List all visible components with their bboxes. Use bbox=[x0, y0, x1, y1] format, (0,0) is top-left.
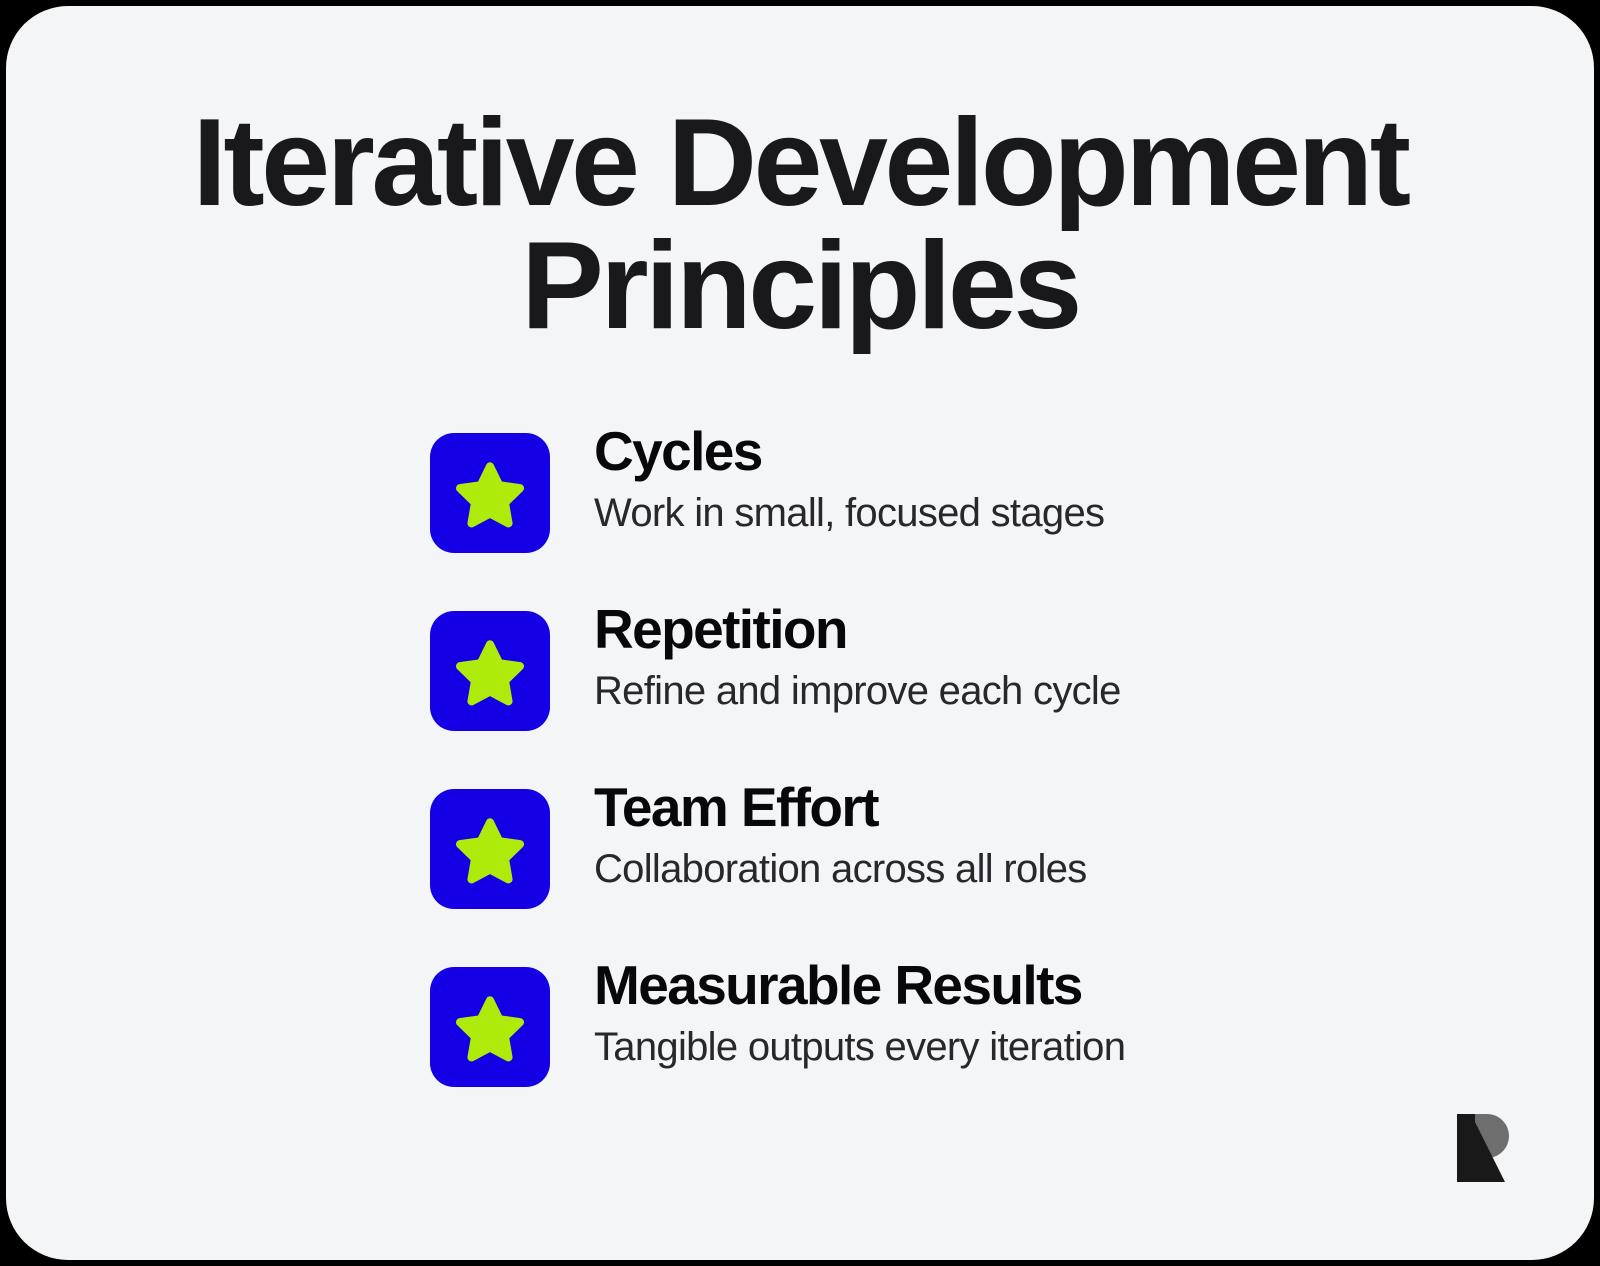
list-item-text: Cycles Work in small, focused stages bbox=[594, 421, 1414, 537]
list-item-title: Repetition bbox=[594, 599, 1414, 661]
page-title: Iterative Development Principles bbox=[126, 102, 1474, 348]
list-item: Measurable Results Tangible outputs ever… bbox=[430, 967, 1430, 1087]
star-icon bbox=[453, 456, 527, 530]
list-item: Team Effort Collaboration across all rol… bbox=[430, 789, 1430, 909]
star-icon bbox=[453, 634, 527, 708]
list-item-title: Team Effort bbox=[594, 777, 1414, 839]
list-item-text: Team Effort Collaboration across all rol… bbox=[594, 777, 1414, 893]
list-item: Cycles Work in small, focused stages bbox=[430, 433, 1430, 553]
list-item-description: Work in small, focused stages bbox=[594, 490, 1414, 537]
star-icon bbox=[453, 812, 527, 886]
star-icon-tile bbox=[430, 433, 550, 553]
list-item-text: Repetition Refine and improve each cycle bbox=[594, 599, 1414, 715]
star-icon-tile bbox=[430, 611, 550, 731]
list-item: Repetition Refine and improve each cycle bbox=[430, 611, 1430, 731]
star-icon-tile bbox=[430, 967, 550, 1087]
star-icon-tile bbox=[430, 789, 550, 909]
brand-logo-r-icon bbox=[1449, 1112, 1515, 1184]
list-item-title: Measurable Results bbox=[594, 955, 1414, 1017]
list-item-description: Tangible outputs every iteration bbox=[594, 1024, 1414, 1071]
list-item-description: Refine and improve each cycle bbox=[594, 668, 1414, 715]
content-card: Iterative Development Principles Cycles … bbox=[6, 6, 1594, 1260]
list-item-title: Cycles bbox=[594, 421, 1414, 483]
list-item-description: Collaboration across all roles bbox=[594, 846, 1414, 893]
principles-list: Cycles Work in small, focused stages Rep… bbox=[430, 433, 1430, 1087]
star-icon bbox=[453, 990, 527, 1064]
list-item-text: Measurable Results Tangible outputs ever… bbox=[594, 955, 1414, 1071]
